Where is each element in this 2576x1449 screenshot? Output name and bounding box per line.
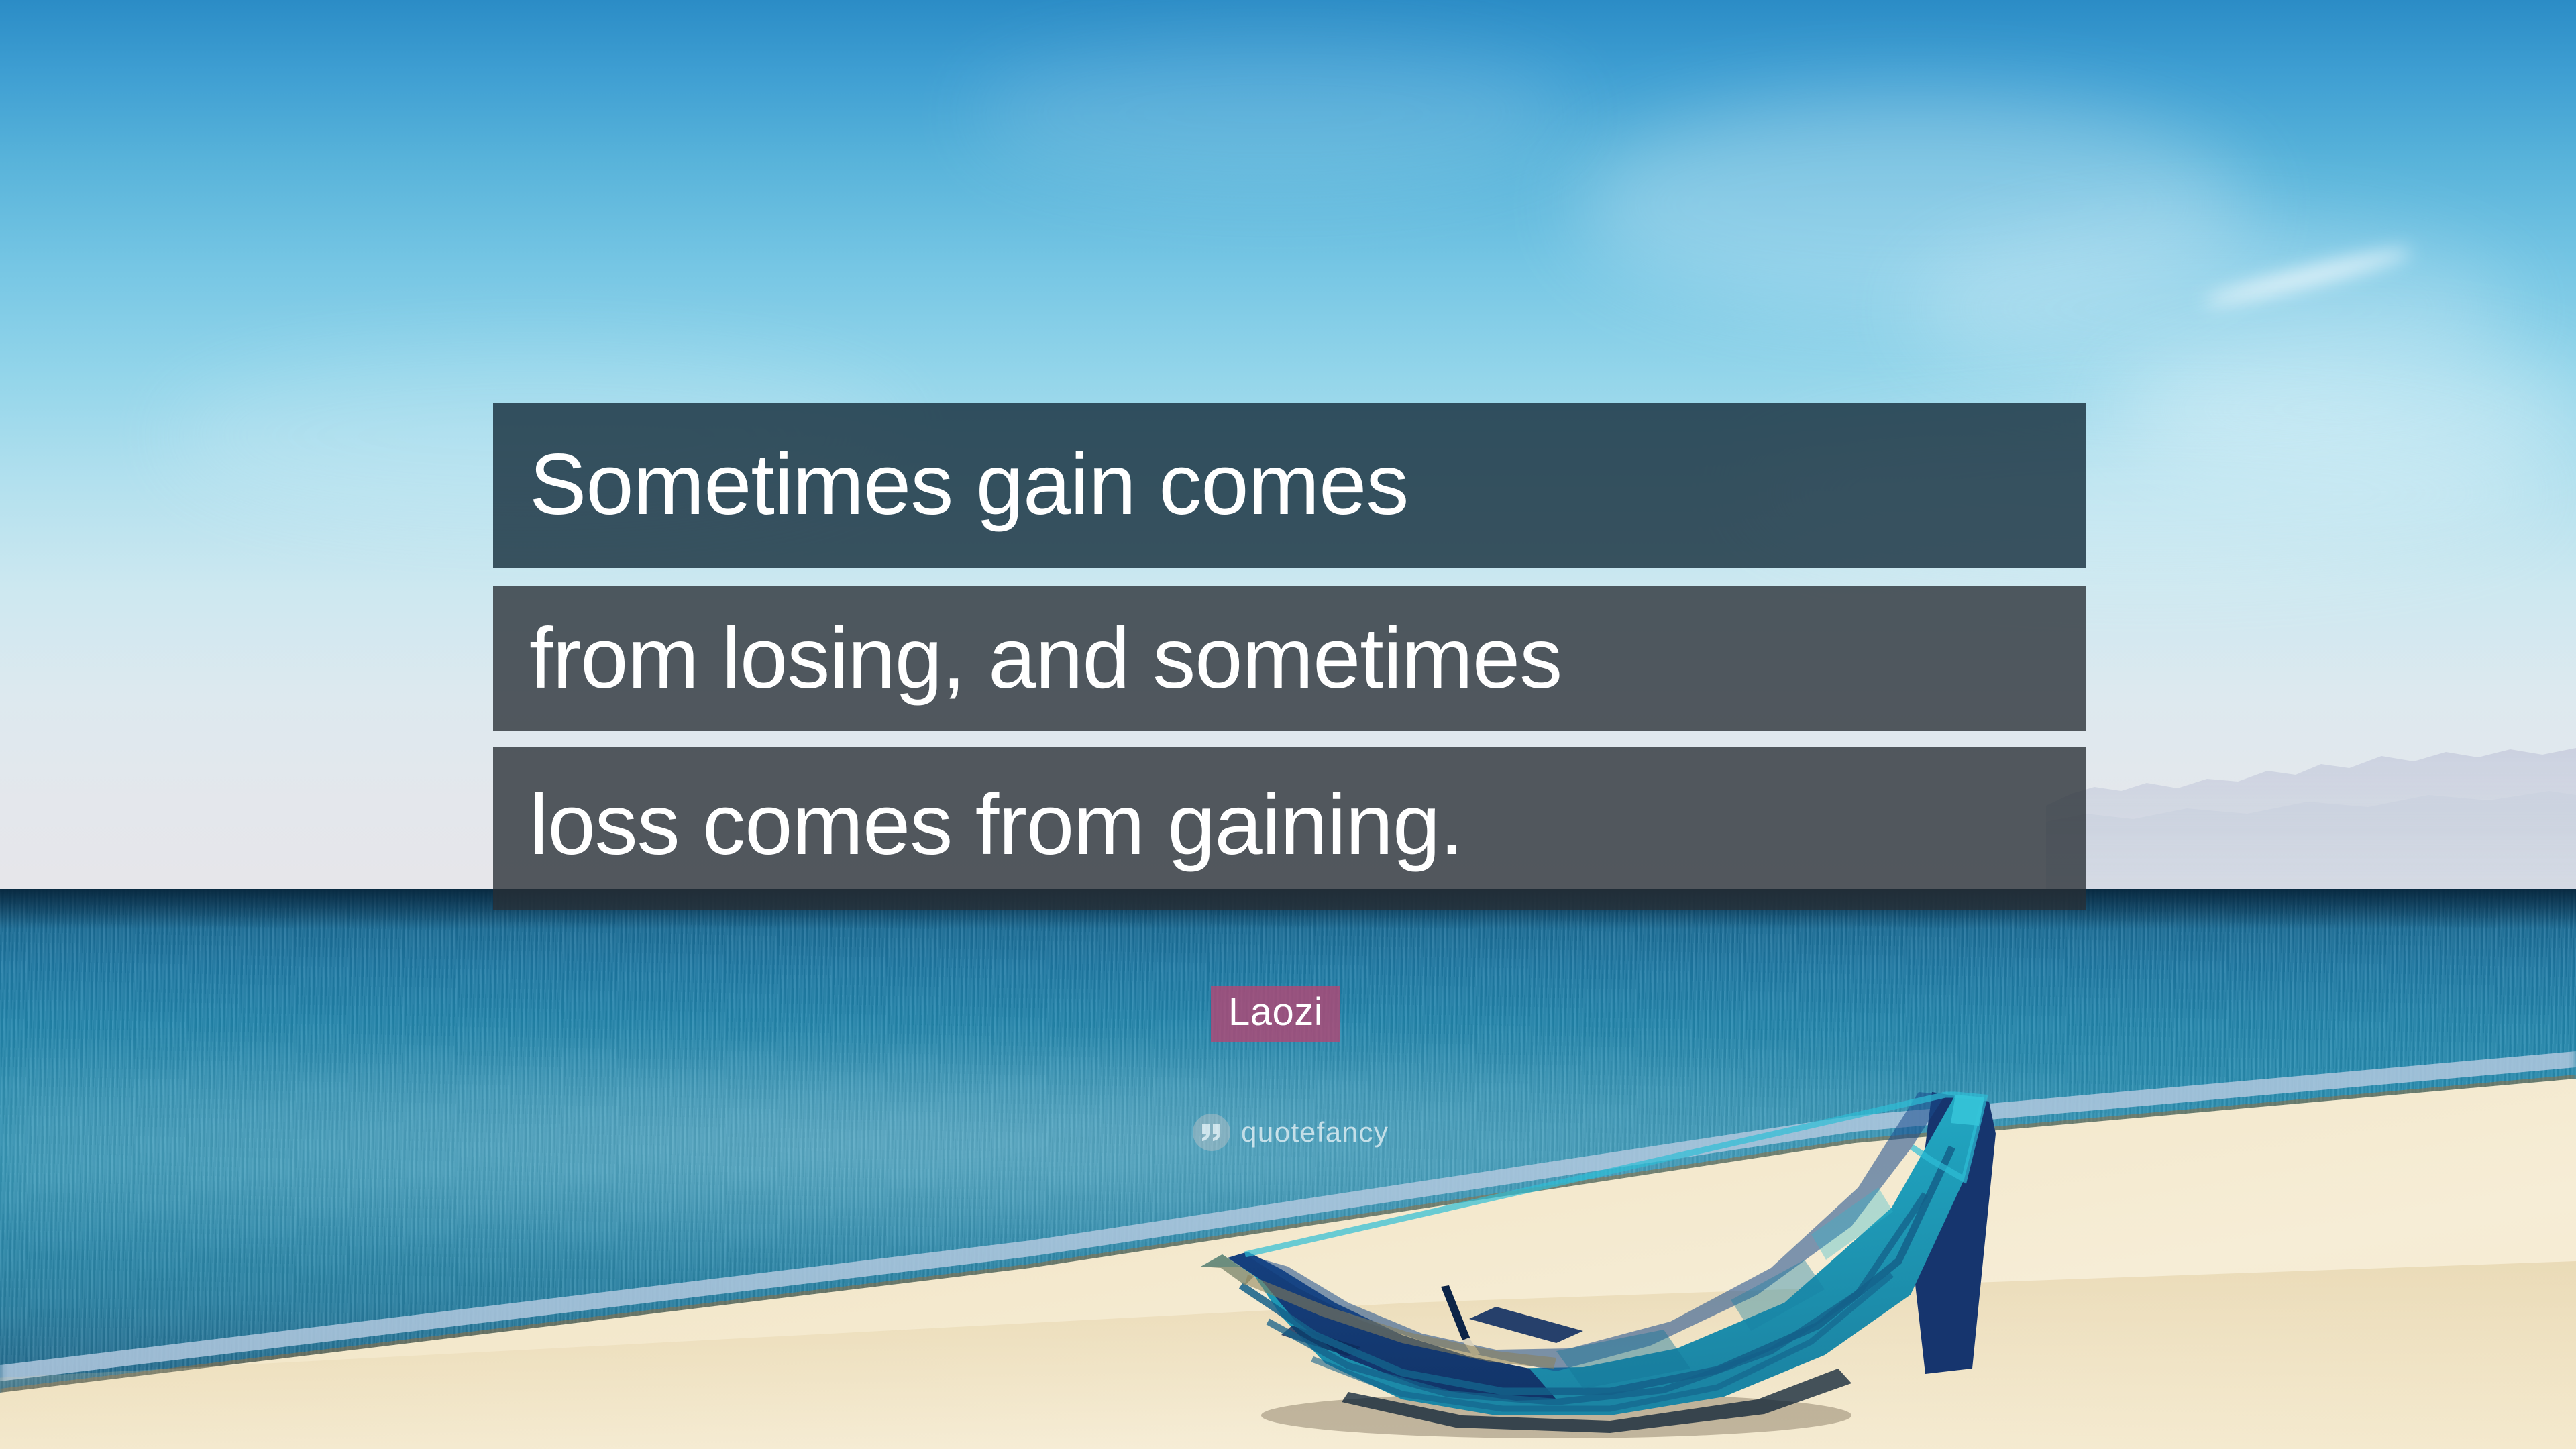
quote-text-block: Sometimes gain comes from losing, and so… (493, 402, 2086, 910)
quote-mark-icon (1193, 1114, 1230, 1151)
wallpaper-canvas: Sometimes gain comes from losing, and so… (0, 0, 2576, 1449)
quote-line: loss comes from gaining. (493, 747, 2086, 910)
watermark-brand: quotefancy (1241, 1116, 1389, 1148)
blue-boat (1181, 1053, 2080, 1442)
quotefancy-watermark: quotefancy (1193, 1114, 1389, 1151)
author-badge: Laozi (1211, 986, 1340, 1042)
quote-line: Sometimes gain comes (493, 402, 2086, 568)
distant-mountain-range (2046, 741, 2576, 892)
quote-line: from losing, and sometimes (493, 586, 2086, 731)
